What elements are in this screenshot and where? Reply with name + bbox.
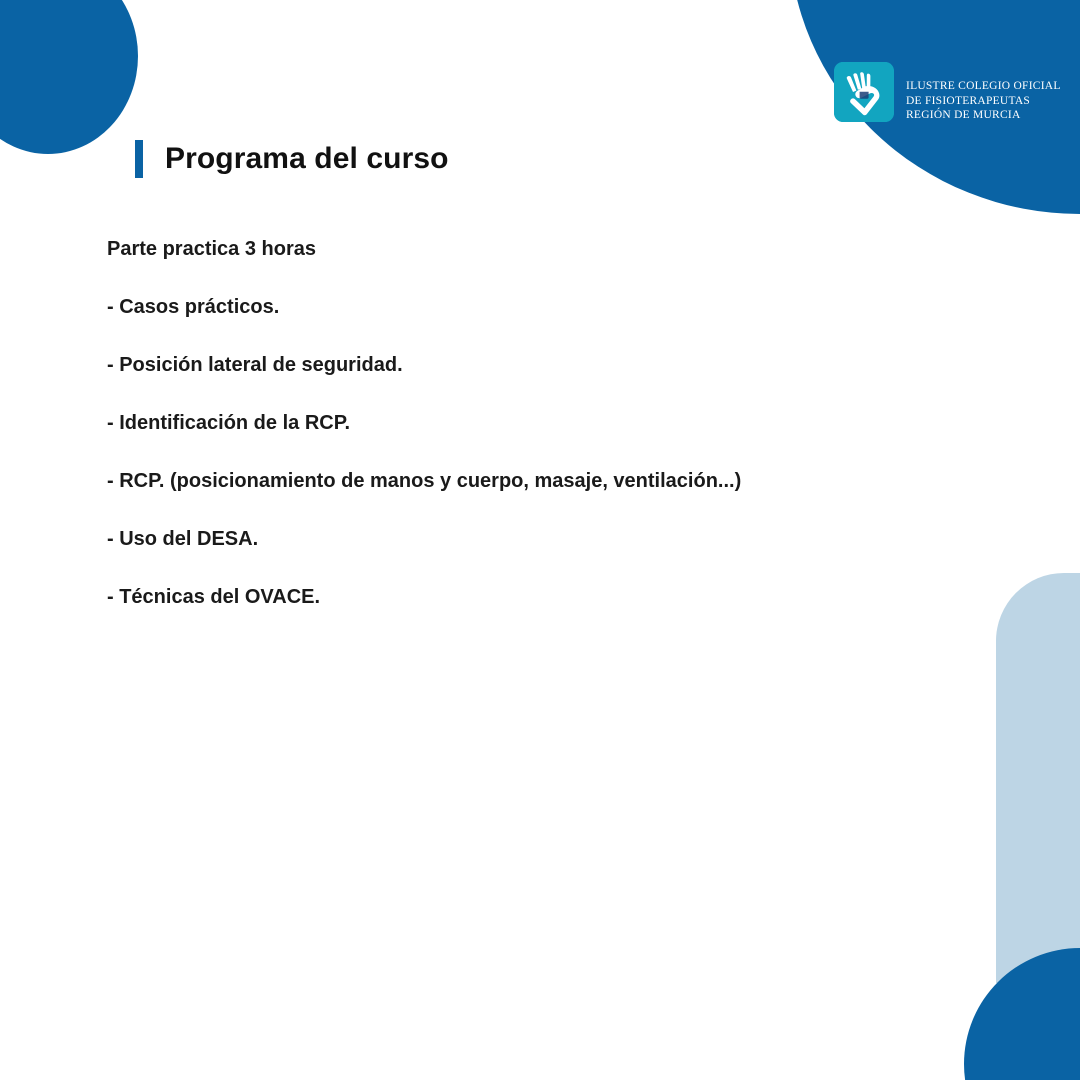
- decorative-rounded-rect-bottom-right: [996, 573, 1080, 983]
- heading-accent-bar: [135, 140, 143, 178]
- list-item: - Uso del DESA.: [107, 526, 967, 552]
- logo-wordmark: ILUSTRE COLEGIO OFICIAL DE FISIOTERAPEUT…: [906, 62, 1061, 123]
- logo-wordmark-line-3: REGIÓN DE MURCIA: [906, 108, 1061, 123]
- logo-lockup: ILUSTRE COLEGIO OFICIAL DE FISIOTERAPEUT…: [834, 62, 1061, 123]
- list-item: - Casos prácticos.: [107, 294, 967, 320]
- decorative-circle-bottom-right: [964, 948, 1080, 1080]
- heading-row: Programa del curso: [135, 140, 449, 178]
- list-item: - Técnicas del OVACE.: [107, 584, 967, 610]
- logo-wordmark-line-2: DE FISIOTERAPEUTAS: [906, 94, 1061, 109]
- list-item: - Posición lateral de seguridad.: [107, 352, 967, 378]
- hand-checkmark-icon: [834, 62, 894, 122]
- decorative-circle-top-left: [0, 0, 138, 154]
- list-item: - Identificación de la RCP.: [107, 410, 967, 436]
- logo-wordmark-line-1: ILUSTRE COLEGIO OFICIAL: [906, 79, 1061, 94]
- list-item: Parte practica 3 horas: [107, 236, 967, 262]
- program-list: Parte practica 3 horas - Casos prácticos…: [107, 236, 967, 610]
- list-item: - RCP. (posicionamiento de manos y cuerp…: [107, 468, 967, 494]
- slide-canvas: ILUSTRE COLEGIO OFICIAL DE FISIOTERAPEUT…: [0, 0, 1080, 1080]
- page-title: Programa del curso: [165, 142, 449, 176]
